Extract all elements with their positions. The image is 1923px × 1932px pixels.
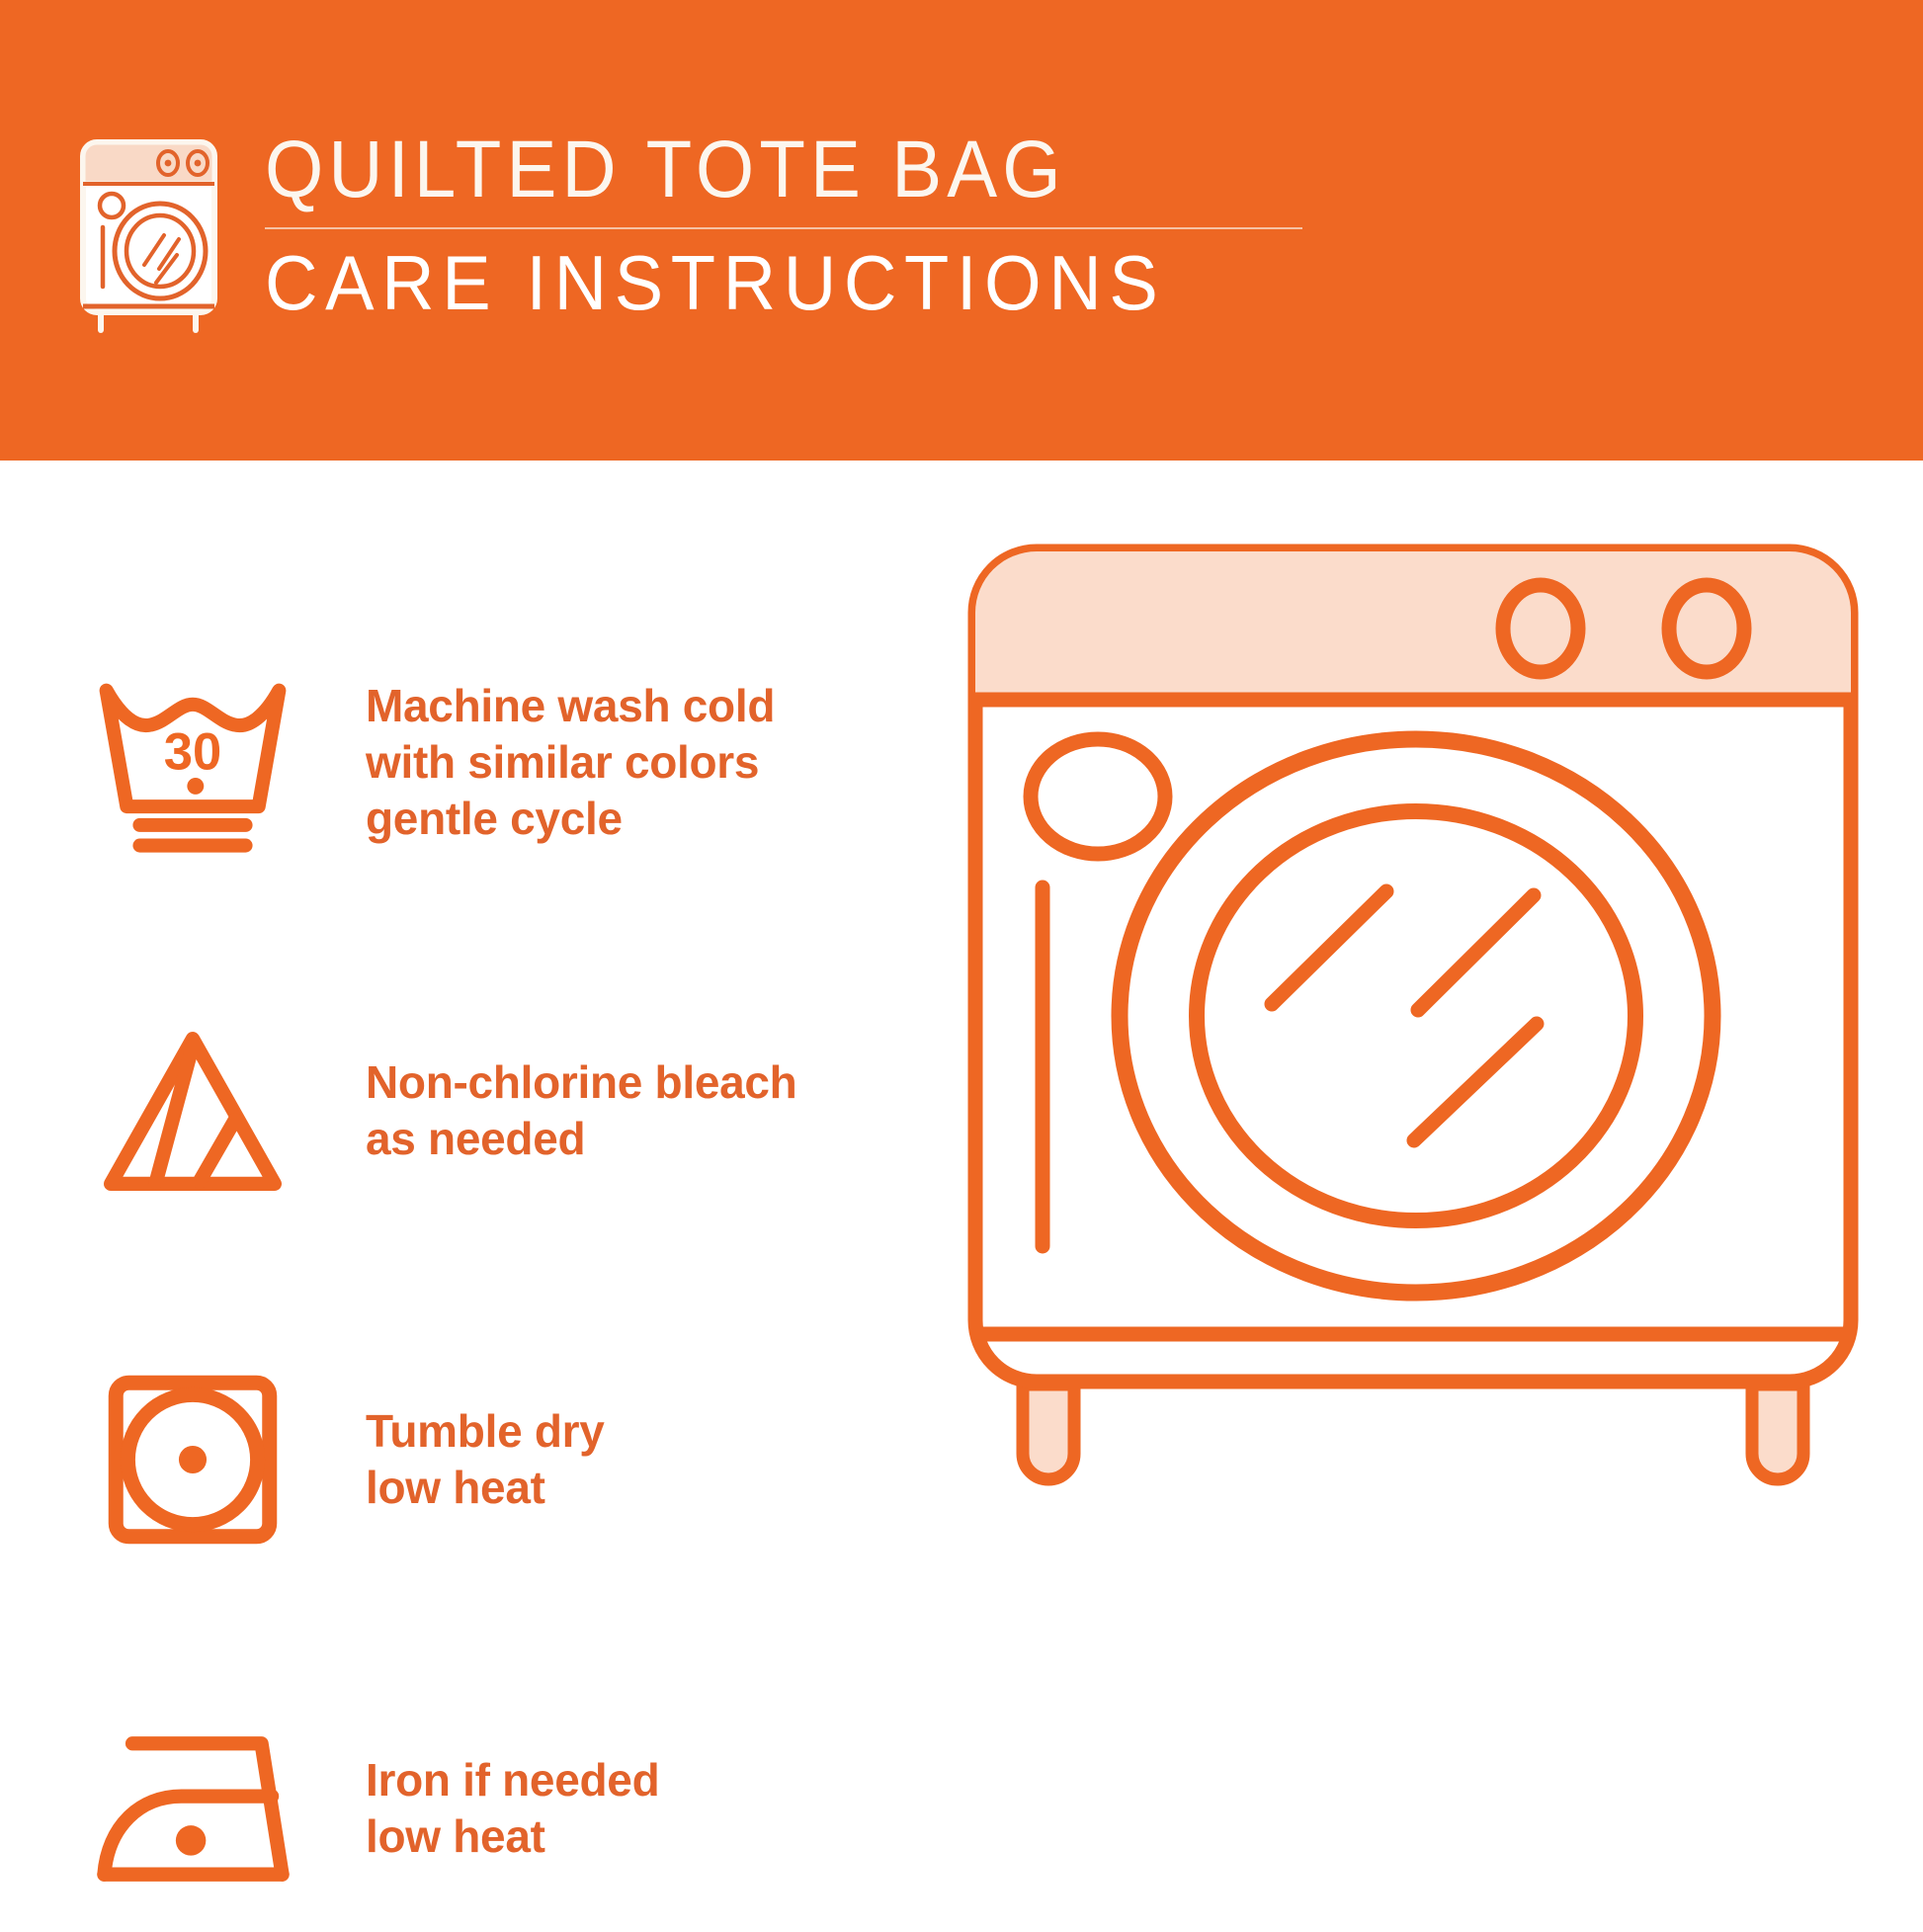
care-row-tumble-dry: Tumble dry low heat: [79, 1336, 929, 1583]
tumble-dry-low-icon: [79, 1356, 306, 1563]
header-content: QUILTED TOTE BAG CARE INSTRUCTIONS: [77, 126, 1302, 339]
header-banner: QUILTED TOTE BAG CARE INSTRUCTIONS: [0, 0, 1923, 461]
control-panel: [975, 551, 1851, 700]
care-row-machine-wash: 30 Machine wash cold with similar colors…: [79, 638, 929, 885]
washing-machine-illustration: [944, 510, 1892, 1765]
care-row-iron: Iron if needed low heat: [79, 1685, 929, 1932]
title-divider: [265, 227, 1302, 229]
content-area: 30 Machine wash cold with similar colors…: [0, 461, 1923, 1923]
washing-machine-icon: [77, 136, 220, 334]
page-title: QUILTED TOTE BAG: [265, 126, 1230, 213]
care-label-iron: Iron if needed low heat: [366, 1752, 659, 1865]
page-subtitle: CARE INSTRUCTIONS: [265, 241, 1251, 324]
non-chlorine-bleach-triangle-icon: [79, 1007, 306, 1215]
leg-right: [1752, 1385, 1803, 1479]
care-row-bleach: Non-chlorine bleach as needed: [79, 987, 929, 1234]
care-label-tumble-dry: Tumble dry low heat: [366, 1403, 605, 1516]
wash-tub-30-icon: 30: [79, 658, 306, 866]
care-label-machine-wash: Machine wash cold with similar colors ge…: [366, 678, 775, 847]
iron-low-heat-icon: [79, 1705, 306, 1912]
care-label-bleach: Non-chlorine bleach as needed: [366, 1054, 796, 1167]
header-titles: QUILTED TOTE BAG CARE INSTRUCTIONS: [265, 126, 1302, 324]
wash-temp-label: 30: [164, 722, 221, 781]
leg-left: [1023, 1385, 1074, 1479]
care-instruction-list: 30 Machine wash cold with similar colors…: [79, 638, 929, 1932]
